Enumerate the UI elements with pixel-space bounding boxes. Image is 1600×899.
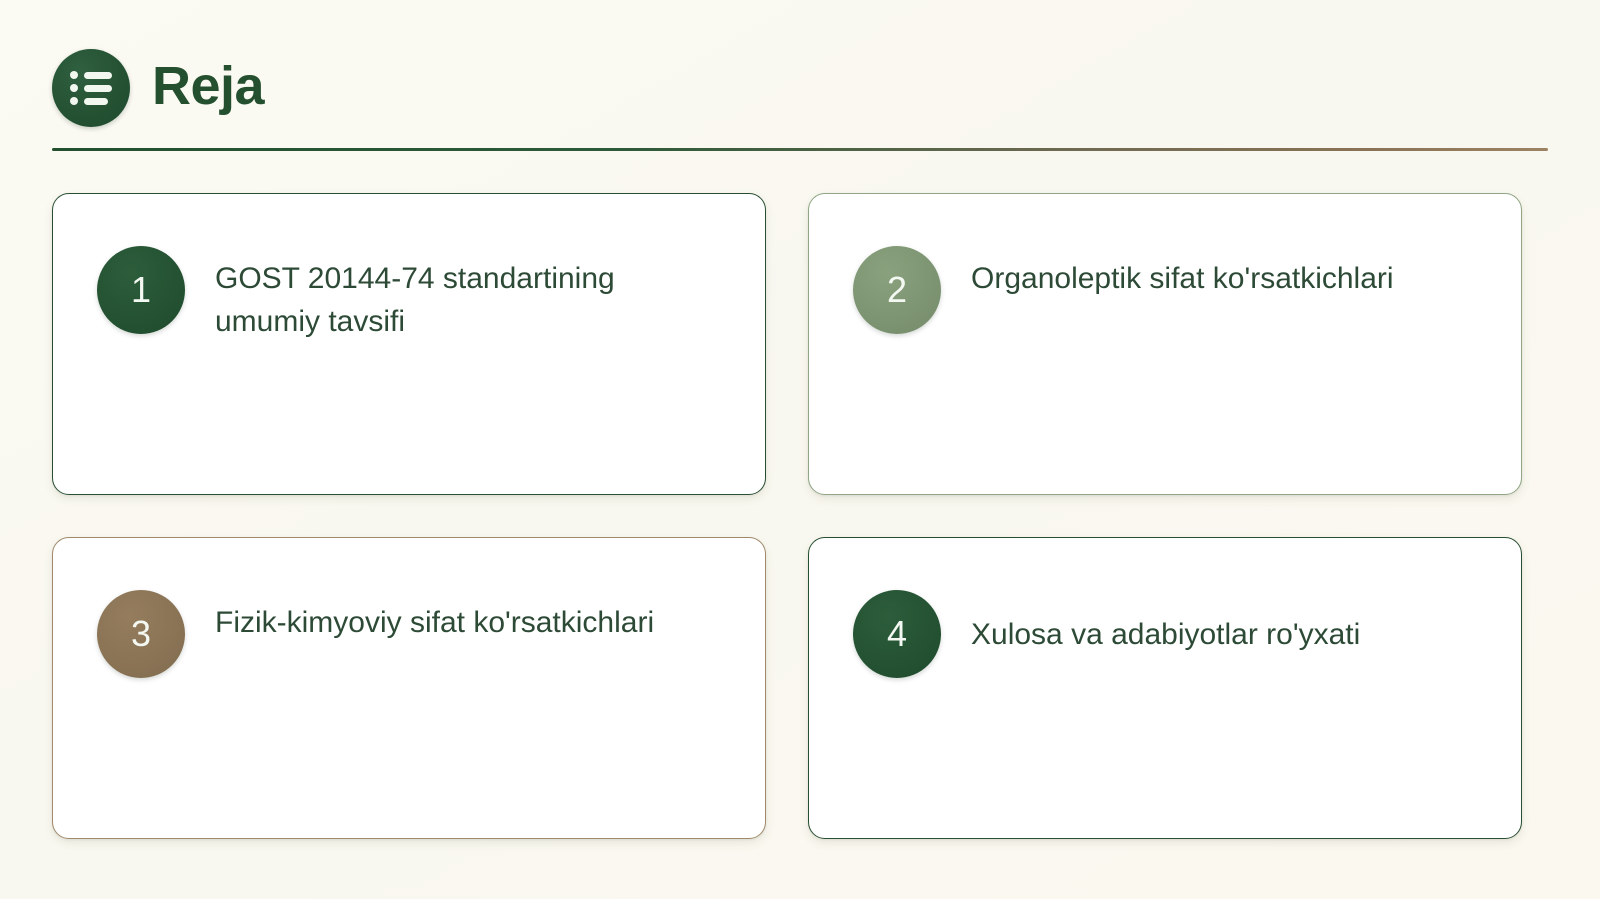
list-icon-dot [70,97,78,105]
list-icon-row [70,97,112,105]
header-divider [52,148,1548,151]
plan-card-label: Fizik-kimyoviy sifat ko'rsatkichlari [215,590,654,645]
plan-card-number-badge: 3 [97,590,185,678]
plan-card-label: GOST 20144-74 standartining umumiy tavsi… [215,246,725,343]
plan-card-4[interactable]: 4 Xulosa va adabiyotlar ro'yxati [808,537,1522,839]
plan-card-1[interactable]: 1 GOST 20144-74 standartining umumiy tav… [52,193,766,495]
list-icon-row [70,84,112,92]
plan-card-number-badge: 2 [853,246,941,334]
slide-root: Reja 1 GOST 20144-74 standartining umumi… [0,0,1600,899]
list-icon [52,49,130,127]
plan-card-label: Xulosa va adabiyotlar ro'yxati [971,590,1360,657]
plan-card-grid: 1 GOST 20144-74 standartining umumiy tav… [52,193,1548,839]
page-title: Reja [152,59,264,117]
list-icon-bar [84,85,112,92]
page-header: Reja [52,46,1548,130]
plan-card-label: Organoleptik sifat ko'rsatkichlari [971,246,1394,301]
list-icon-bar [84,72,112,79]
list-icon-dot [70,71,78,79]
list-icon-dot [70,84,78,92]
plan-card-number-badge: 1 [97,246,185,334]
plan-card-3[interactable]: 3 Fizik-kimyoviy sifat ko'rsatkichlari [52,537,766,839]
list-icon-row [70,71,112,79]
list-icon-glyph [70,71,112,105]
plan-card-number-badge: 4 [853,590,941,678]
list-icon-bar [84,98,108,105]
plan-card-2[interactable]: 2 Organoleptik sifat ko'rsatkichlari [808,193,1522,495]
